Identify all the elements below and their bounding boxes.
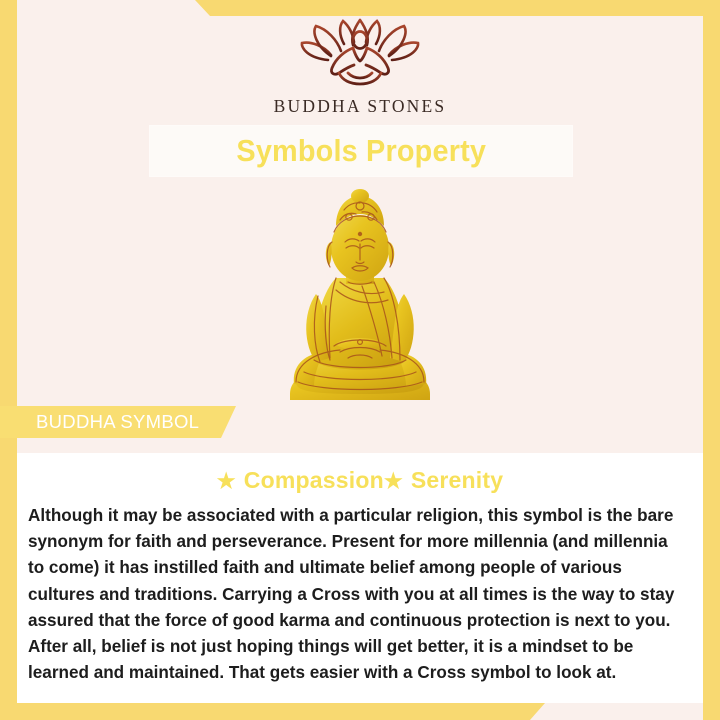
frame-top-band <box>0 0 720 16</box>
content-heading-word-2: Serenity <box>411 467 503 493</box>
category-ribbon: BUDDHA SYMBOL <box>0 406 236 438</box>
content-heading-word-1: Compassion <box>244 467 384 493</box>
brand-wordmark: BUDDHA STONES <box>0 96 720 117</box>
frame-bottom-band <box>0 703 720 720</box>
seated-buddha-statue-icon <box>274 186 446 400</box>
hero-image <box>0 184 720 400</box>
brand-logo-block: BUDDHA STONES <box>0 18 720 117</box>
page-title: Symbols Property <box>236 133 486 169</box>
category-ribbon-label: BUDDHA SYMBOL <box>36 411 199 433</box>
lotus-meditation-icon <box>298 18 422 90</box>
content-heading: ★Compassion★Serenity <box>17 467 703 494</box>
star-icon-1: ★ <box>217 470 236 493</box>
content-body-text: Although it may be associated with a par… <box>28 502 682 685</box>
content-panel: ★Compassion★Serenity Although it may be … <box>17 453 703 703</box>
infographic-poster: BUDDHA STONES Symbols Property <box>0 0 720 720</box>
star-icon-2: ★ <box>384 470 403 493</box>
page-title-plate: Symbols Property <box>150 126 572 176</box>
